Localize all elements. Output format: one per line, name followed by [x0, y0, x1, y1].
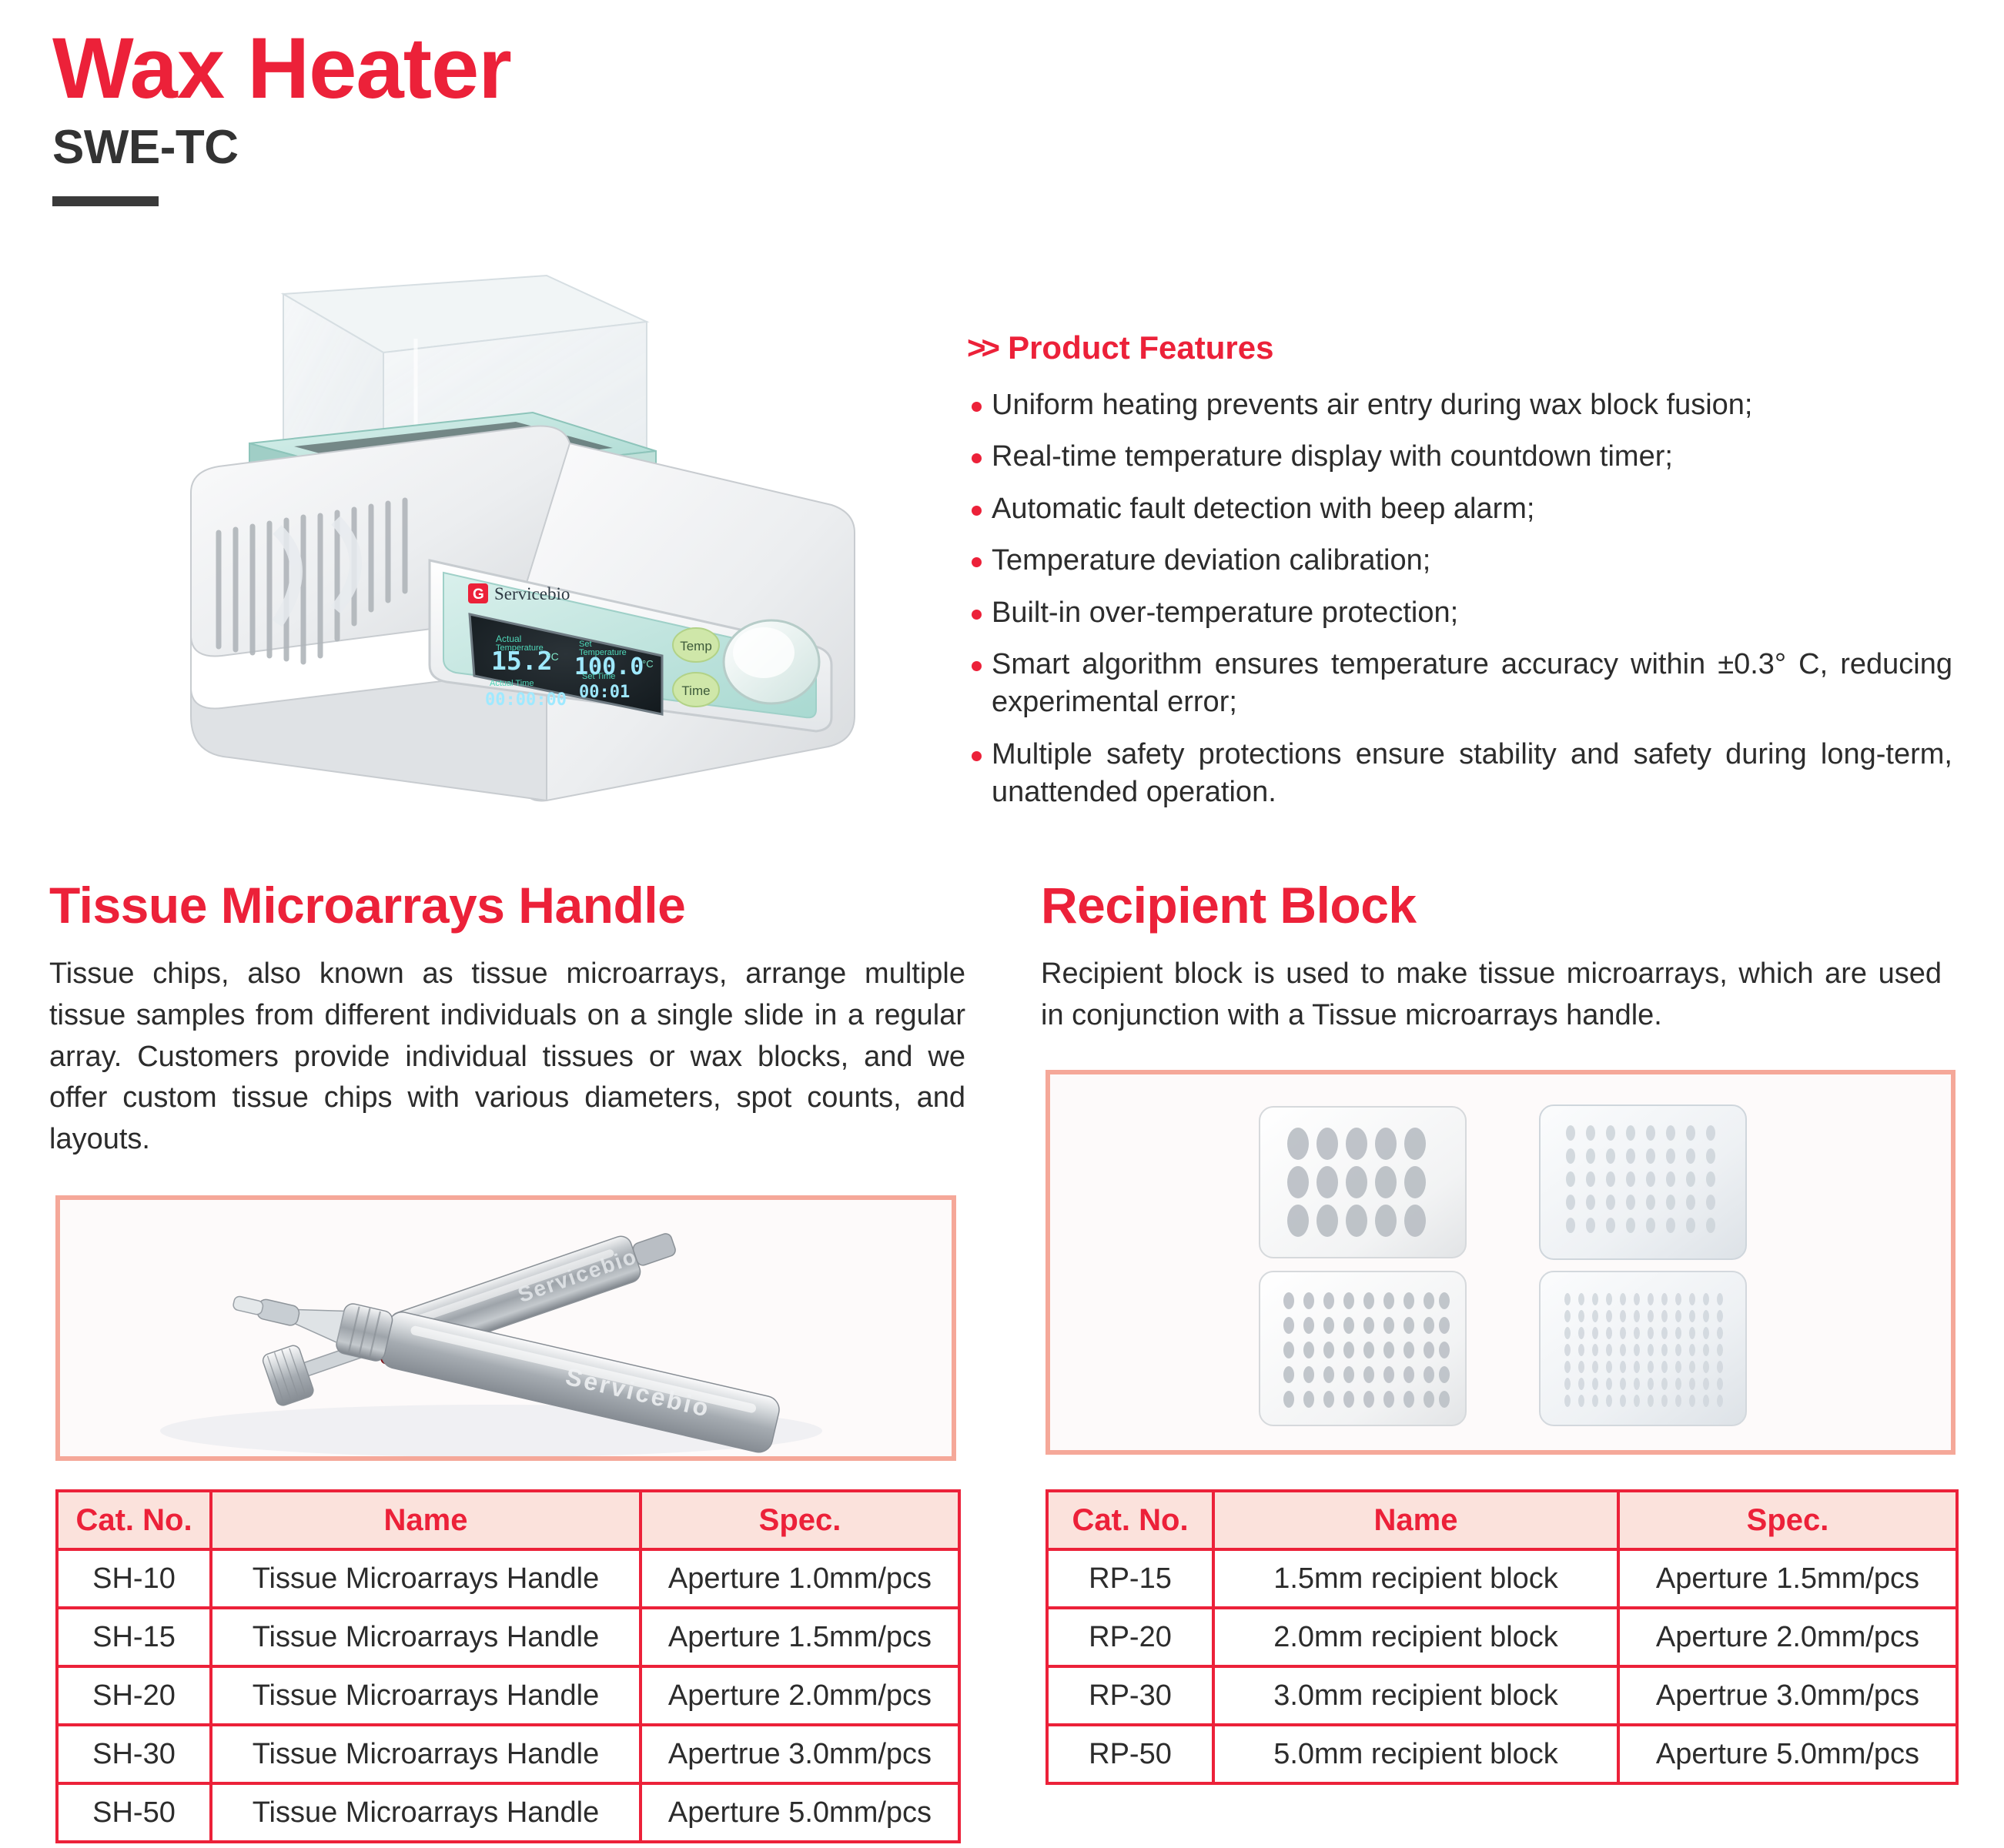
cell-spec: Aperture 5.0mm/pcs [1618, 1725, 1957, 1783]
recipient-block-section: Recipient Block Recipient block is used … [1041, 877, 1953, 1037]
handle-photo-illustration: Servicebio Servicebio [60, 1200, 952, 1456]
cell-cat-no: SH-15 [57, 1608, 211, 1666]
product-features-section: >>Product Features Uniform heating preve… [967, 329, 1968, 826]
cell-cat-no: SH-20 [57, 1666, 211, 1725]
table-row: SH-20 Tissue Microarrays Handle Aperture… [57, 1666, 959, 1725]
table-header-row: Cat. No. Name Spec. [57, 1491, 959, 1549]
column-header-name: Name [211, 1491, 641, 1549]
svg-text:15.2: 15.2 [491, 646, 552, 676]
svg-text:°C: °C [642, 658, 654, 670]
svg-text:00:01: 00:01 [579, 683, 630, 702]
servicebio-logo: G Servicebio [468, 583, 570, 603]
table-row: RP-50 5.0mm recipient block Aperture 5.0… [1047, 1725, 1957, 1783]
tissue-microarrays-handle-photo-panel: Servicebio Servicebio [55, 1195, 956, 1461]
column-header-cat-no: Cat. No. [57, 1491, 211, 1549]
cell-spec: Aperture 1.0mm/pcs [641, 1549, 959, 1608]
page-header: Wax Heater SWE-TC [52, 23, 511, 206]
cell-name: Tissue Microarrays Handle [211, 1608, 641, 1666]
wax-heater-illustration: G Servicebio Actual Temperature 15.2 °C … [185, 262, 893, 870]
cell-name: 5.0mm recipient block [1213, 1725, 1618, 1783]
title-underline-rule [52, 196, 159, 206]
column-header-cat-no: Cat. No. [1047, 1491, 1213, 1549]
product-features-list: Uniform heating prevents air entry durin… [967, 386, 1968, 812]
svg-text:Actual: Actual [496, 633, 521, 644]
rotary-knob [724, 620, 819, 703]
recipient-block-paragraph: Recipient block is used to make tissue m… [1041, 954, 1942, 1037]
model-code: SWE-TC [52, 120, 511, 175]
feature-item: Built-in over-temperature protection; [967, 594, 1952, 632]
cell-cat-no: RP-20 [1047, 1608, 1213, 1666]
recipient-block-photo-panel [1045, 1070, 1955, 1455]
cell-name: Tissue Microarrays Handle [211, 1783, 641, 1842]
table-row: SH-50 Tissue Microarrays Handle Aperture… [57, 1783, 959, 1842]
table-row: SH-30 Tissue Microarrays Handle Apertrue… [57, 1725, 959, 1783]
double-chevron-right-icon: >> [967, 329, 995, 366]
cell-spec: Apertrue 3.0mm/pcs [1618, 1666, 1957, 1725]
table-header-row: Cat. No. Name Spec. [1047, 1491, 1957, 1549]
table-row: RP-30 3.0mm recipient block Apertrue 3.0… [1047, 1666, 1957, 1725]
cell-name: 2.0mm recipient block [1213, 1608, 1618, 1666]
recipient-block-heading: Recipient Block [1041, 877, 1953, 934]
table-row: RP-15 1.5mm recipient block Aperture 1.5… [1047, 1549, 1957, 1608]
cell-spec: Aperture 2.0mm/pcs [641, 1666, 959, 1725]
cell-spec: Aperture 5.0mm/pcs [641, 1783, 959, 1842]
temp-button: Temp [673, 628, 719, 662]
feature-item: Uniform heating prevents air entry durin… [967, 386, 1952, 424]
cell-cat-no: RP-15 [1047, 1549, 1213, 1608]
cell-cat-no: SH-50 [57, 1783, 211, 1842]
recipient-block-dense [1540, 1272, 1746, 1425]
tissue-microarrays-handle-section: Tissue Microarrays Handle Tissue chips, … [49, 877, 973, 1161]
svg-text:Actual Time: Actual Time [490, 679, 534, 688]
cell-spec: Aperture 1.5mm/pcs [1618, 1549, 1957, 1608]
svg-text:Temp: Temp [680, 639, 712, 653]
feature-item: Multiple safety protections ensure stabi… [967, 736, 1952, 812]
cell-spec: Apertrue 3.0mm/pcs [641, 1725, 959, 1783]
column-header-name: Name [1213, 1491, 1618, 1549]
table-row: RP-20 2.0mm recipient block Aperture 2.0… [1047, 1608, 1957, 1666]
cell-name: 3.0mm recipient block [1213, 1666, 1618, 1725]
cell-cat-no: SH-10 [57, 1549, 211, 1608]
svg-text:Set Time: Set Time [582, 672, 615, 681]
cell-name: 1.5mm recipient block [1213, 1549, 1618, 1608]
cell-spec: Aperture 2.0mm/pcs [1618, 1608, 1957, 1666]
svg-text:Time: Time [681, 683, 710, 698]
table-row: SH-10 Tissue Microarrays Handle Aperture… [57, 1549, 959, 1608]
product-features-heading: >>Product Features [967, 329, 1968, 366]
column-header-spec: Spec. [641, 1491, 959, 1549]
recipient-block-5x3 [1260, 1107, 1466, 1258]
tissue-microarrays-handle-heading: Tissue Microarrays Handle [49, 877, 973, 934]
column-header-spec: Spec. [1618, 1491, 1957, 1549]
cell-name: Tissue Microarrays Handle [211, 1725, 641, 1783]
tissue-microarrays-handle-paragraph: Tissue chips, also known as tissue micro… [49, 954, 965, 1161]
cell-cat-no: RP-30 [1047, 1666, 1213, 1725]
recipient-blocks-illustration [1050, 1074, 1951, 1450]
svg-text:°C: °C [547, 650, 559, 663]
recipient-block-fine-grid [1540, 1105, 1746, 1259]
svg-text:Servicebio: Servicebio [494, 584, 570, 603]
recipient-block-9x5 [1260, 1272, 1466, 1425]
product-features-heading-text: Product Features [1008, 329, 1273, 366]
time-button: Time [673, 673, 719, 707]
cell-cat-no: SH-30 [57, 1725, 211, 1783]
tissue-microarrays-handle-spec-table: Cat. No. Name Spec. SH-10 Tissue Microar… [55, 1489, 961, 1843]
recipient-block-spec-table: Cat. No. Name Spec. RP-15 1.5mm recipien… [1045, 1489, 1959, 1785]
brochure-page: Wax Heater SWE-TC [0, 0, 2004, 1848]
cell-name: Tissue Microarrays Handle [211, 1666, 641, 1725]
svg-text:G: G [473, 586, 484, 603]
feature-item: Real-time temperature display with count… [967, 438, 1952, 476]
feature-item: Smart algorithm ensures temperature accu… [967, 646, 1952, 722]
cell-spec: Aperture 1.5mm/pcs [641, 1608, 959, 1666]
feature-item: Temperature deviation calibration; [967, 542, 1952, 580]
cell-cat-no: RP-50 [1047, 1725, 1213, 1783]
feature-item: Automatic fault detection with beep alar… [967, 490, 1952, 528]
cell-name: Tissue Microarrays Handle [211, 1549, 641, 1608]
wax-heater-product-photo: G Servicebio Actual Temperature 15.2 °C … [185, 262, 893, 870]
table-row: SH-15 Tissue Microarrays Handle Aperture… [57, 1608, 959, 1666]
page-title: Wax Heater [52, 23, 511, 114]
svg-text:00:00:00: 00:00:00 [485, 690, 567, 710]
